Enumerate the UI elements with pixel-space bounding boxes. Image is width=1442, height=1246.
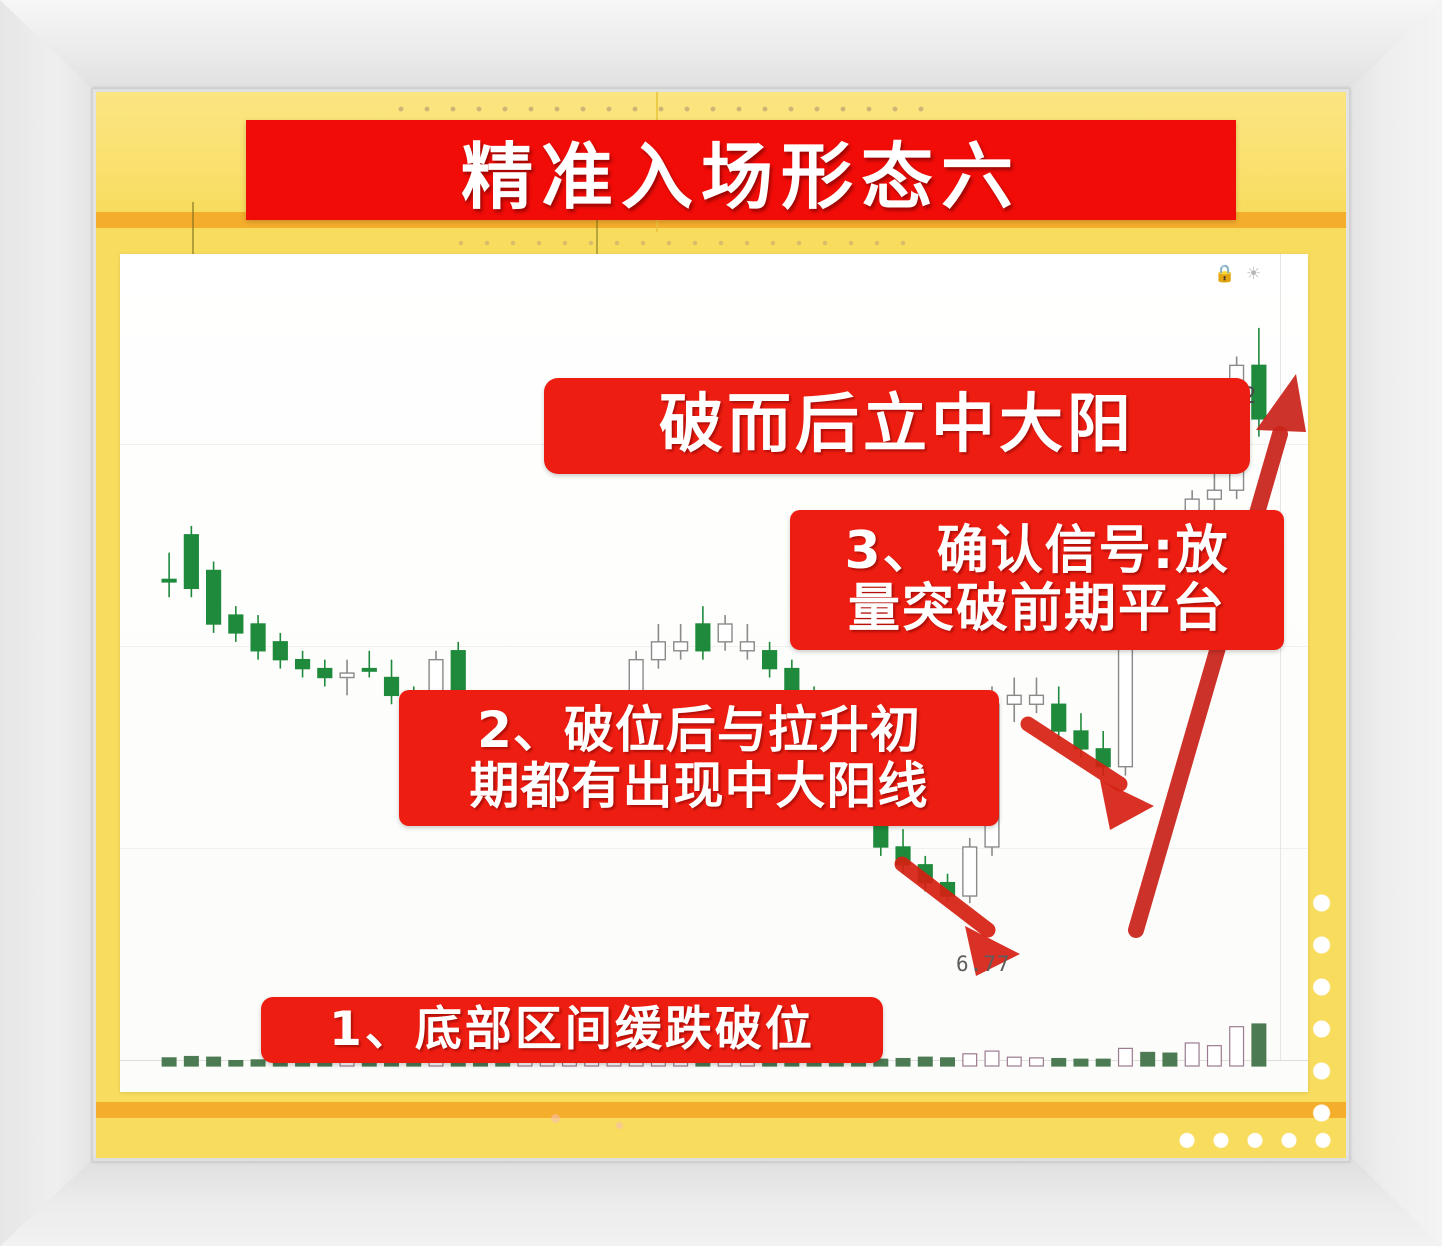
subtitle-banner: 破而后立中大阳 xyxy=(544,378,1250,474)
candlestick xyxy=(318,669,332,678)
volume-bar xyxy=(1119,1048,1133,1066)
candlestick xyxy=(273,642,287,660)
candlestick xyxy=(696,624,710,651)
page-title: 精准入场形态六 xyxy=(461,118,1021,223)
volume-bar xyxy=(1030,1058,1044,1066)
volume-bar xyxy=(896,1059,910,1066)
poster-scallop-right xyxy=(1306,882,1332,1142)
candlestick xyxy=(184,535,198,589)
poster-dot-decoration-second xyxy=(448,232,918,254)
volume-bar xyxy=(963,1054,977,1066)
volume-bar xyxy=(941,1058,955,1066)
annotation-2: 2、破位后与拉升初 期都有出现中大阳线 xyxy=(399,690,999,826)
candlestick xyxy=(718,624,732,642)
candlestick xyxy=(652,642,666,660)
arrow-second-bullish xyxy=(1028,724,1154,830)
volume-bar xyxy=(251,1060,265,1066)
candlestick xyxy=(1208,490,1222,499)
poster-accent-dot xyxy=(551,1114,560,1123)
candlestick xyxy=(1030,695,1044,704)
poster-orange-band-bottom xyxy=(96,1102,1346,1118)
volume-bar xyxy=(1052,1059,1066,1066)
volume-bar xyxy=(229,1061,243,1066)
candlestick xyxy=(385,678,399,696)
price-label-low: 6.77 xyxy=(956,952,1011,976)
volume-bar xyxy=(184,1057,198,1066)
candlestick xyxy=(1074,731,1088,749)
annotation-2-line-1: 2、破位后与拉升初 xyxy=(477,702,921,758)
candlestick xyxy=(251,624,265,651)
poster-accent-dot xyxy=(616,1122,623,1129)
poster-scallop-bottom xyxy=(1170,1130,1346,1156)
candlestick xyxy=(296,660,310,669)
candlestick xyxy=(1007,695,1021,704)
picture-frame: 精准入场形态六 xyxy=(0,0,1442,1246)
annotation-2-line-2: 期都有出现中大阳线 xyxy=(470,758,929,814)
volume-bar xyxy=(985,1051,999,1066)
volume-bar xyxy=(1074,1059,1088,1066)
subtitle-text: 破而后立中大阳 xyxy=(659,390,1135,462)
candlestick xyxy=(362,669,376,672)
annotation-1: 1、底部区间缓跌破位 xyxy=(261,997,883,1063)
volume-bar xyxy=(1096,1059,1110,1066)
poster-canvas: 精准入场形态六 xyxy=(96,92,1346,1158)
candlestick xyxy=(1052,704,1066,731)
volume-bar xyxy=(1163,1053,1177,1066)
volume-bar xyxy=(1185,1043,1199,1066)
frame-bevel-right xyxy=(1346,0,1442,1246)
volume-bar xyxy=(1007,1057,1021,1066)
frame-bevel-top xyxy=(0,0,1442,93)
volume-bar xyxy=(1252,1024,1266,1066)
volume-bar xyxy=(918,1057,932,1066)
candlestick xyxy=(674,642,688,651)
annotation-3-line-2: 量突破前期平台 xyxy=(848,580,1226,638)
annotation-3: 3、确认信号:放 量突破前期平台 xyxy=(790,510,1284,650)
sun-icon[interactable]: ☀ xyxy=(1246,264,1261,284)
annotation-3-line-1: 3、确认信号:放 xyxy=(845,522,1230,580)
candlestick xyxy=(963,847,977,896)
candlestick xyxy=(207,570,221,624)
volume-bar xyxy=(1208,1046,1222,1066)
candlestick xyxy=(162,579,176,582)
candlestick xyxy=(340,673,354,677)
volume-bar xyxy=(1141,1052,1155,1066)
frame-bevel-left xyxy=(0,0,96,1246)
candlestick xyxy=(763,651,777,669)
frame-bevel-bottom xyxy=(0,1156,1442,1246)
volume-bar xyxy=(1230,1027,1244,1066)
candlestick xyxy=(229,615,243,633)
annotation-1-line-1: 1、底部区间缓跌破位 xyxy=(329,1004,815,1057)
candlestick xyxy=(740,642,754,651)
volume-bar xyxy=(162,1058,176,1066)
volume-bar xyxy=(207,1057,221,1066)
poster-title-banner: 精准入场形态六 xyxy=(246,120,1236,220)
lock-icon[interactable]: 🔒 xyxy=(1214,264,1235,284)
